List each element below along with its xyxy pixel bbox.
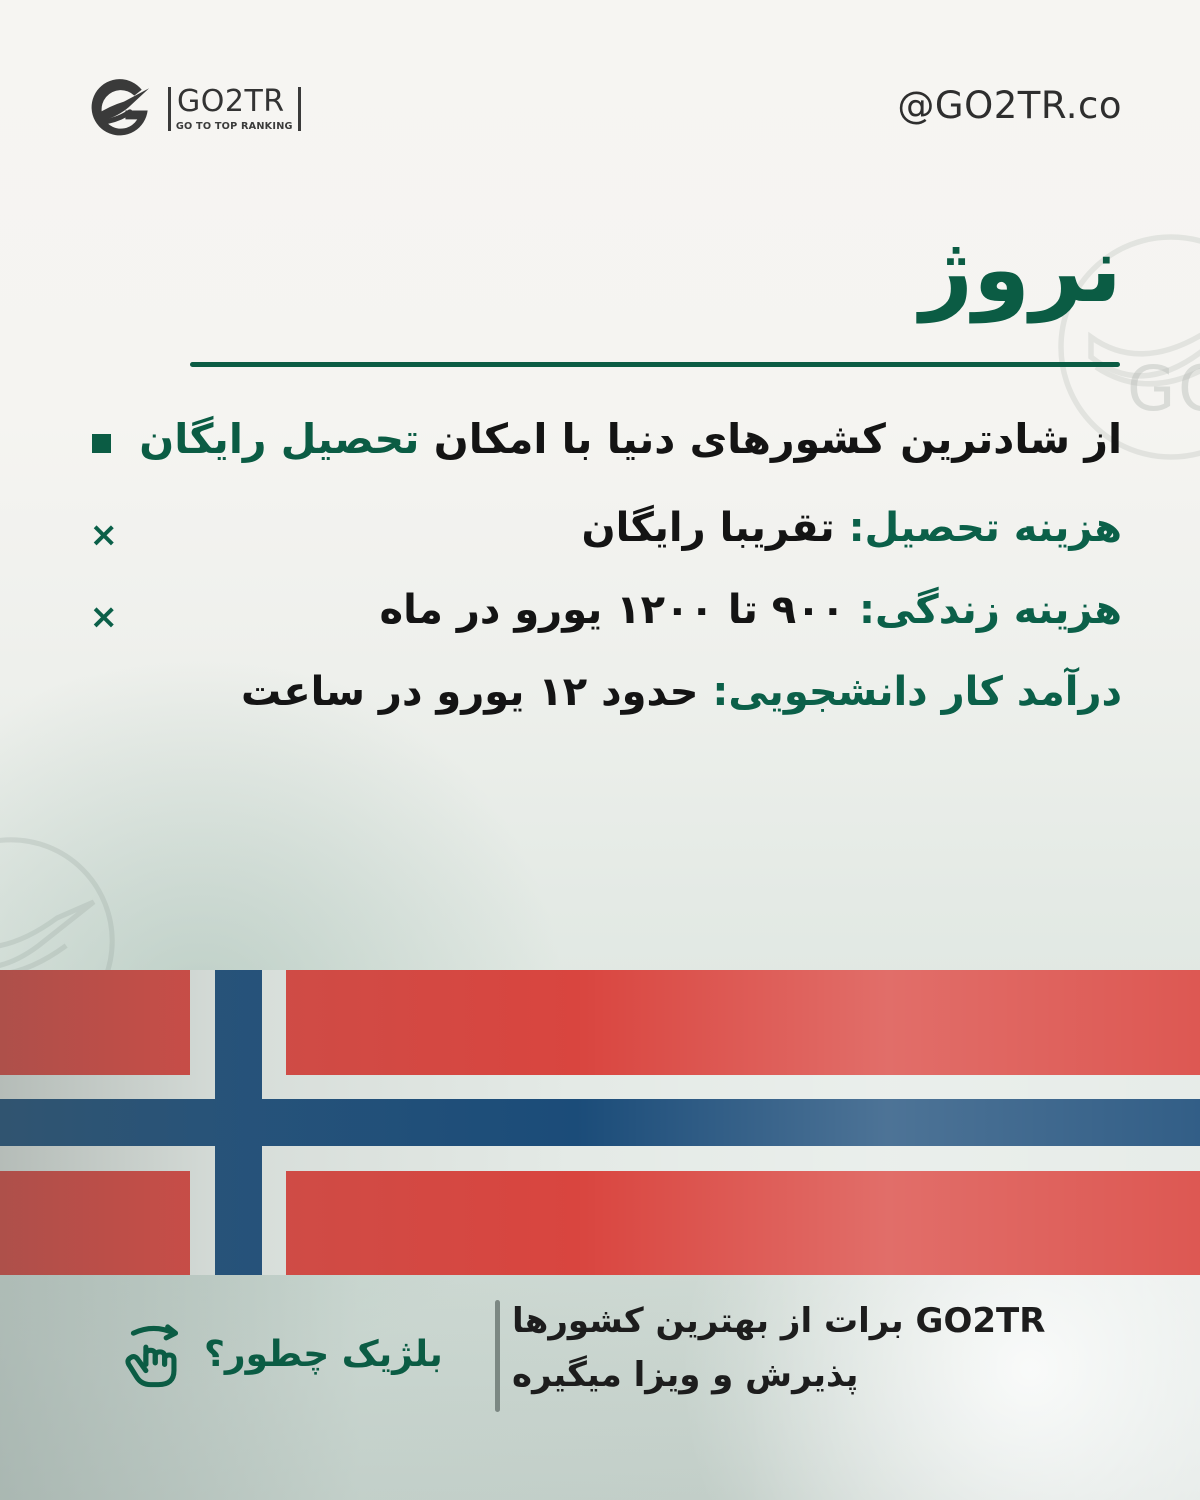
cta-label: بلژیک چطور؟: [204, 1333, 443, 1376]
list-item-text: از شادترین کشورهای دنیا با امکان تحصیل ر…: [129, 408, 1122, 472]
square-bullet-icon: [92, 434, 111, 453]
cross-bullet-icon: ×: [92, 600, 118, 634]
fact-value: ۹۰۰ تا ۱۲۰۰ یورو در ماه: [380, 587, 859, 633]
footer-line-1: GO2TR برات از بهترین کشورها: [512, 1294, 1082, 1348]
fact-label: درآمد کار دانشجویی:: [712, 669, 1122, 715]
cross-bullet-icon: ×: [92, 518, 118, 552]
go2tr-swoosh-logo-icon: [84, 72, 158, 146]
footer-line-2: پذیرش و ویزا میگیره: [512, 1348, 1082, 1402]
brand-logo-wordmark: GO2TR GO TO TOP RANKING: [168, 87, 301, 132]
page-title: نروژ: [920, 222, 1122, 319]
social-handle[interactable]: @GO2TR.co: [897, 84, 1122, 127]
fact-label: هزینه تحصیل:: [849, 505, 1122, 551]
fact-value: حدود ۱۲ یورو در ساعت: [241, 669, 712, 715]
watermark-text-right: GO: [1127, 352, 1200, 425]
list-item-tuition-cost: × هزینه تحصیل: تقریبا رایگان: [92, 498, 1122, 558]
fact-value: تقریبا رایگان: [581, 505, 848, 551]
footer-message: GO2TR برات از بهترین کشورها پذیرش و ویزا…: [512, 1294, 1082, 1403]
brand-tagline: GO TO TOP RANKING: [176, 122, 293, 132]
highlight-accent: تحصیل رایگان: [139, 415, 419, 463]
footer-divider: [495, 1300, 500, 1412]
footer-line-1-rest: برات از بهترین کشورها: [512, 1301, 916, 1341]
title-divider: [190, 362, 1120, 367]
facts-list: از شادترین کشورهای دنیا با امکان تحصیل ر…: [92, 408, 1122, 728]
brand-logo[interactable]: GO2TR GO TO TOP RANKING: [84, 72, 301, 146]
cta-next-country[interactable]: بلژیک چطور؟: [110, 1316, 443, 1394]
footer: GO2TR برات از بهترین کشورها پذیرش و ویزا…: [0, 1280, 1200, 1460]
flag-blue-horizontal-band: [0, 1099, 1200, 1146]
header: GO2TR GO TO TOP RANKING @GO2TR.co: [0, 0, 1200, 180]
infographic-canvas: GO 2TR GO2TR GO TO TOP RANKING @GO2TR.co…: [0, 0, 1200, 1500]
norway-flag: [0, 970, 1200, 1275]
highlight-lead: از شادترین کشورهای دنیا: [607, 415, 1122, 463]
brand-name: GO2TR: [177, 87, 285, 117]
fact-label: هزینه زندگی:: [859, 587, 1122, 633]
list-item-text: هزینه زندگی: ۹۰۰ تا ۱۲۰۰ یورو در ماه: [136, 580, 1122, 640]
list-item-text: هزینه تحصیل: تقریبا رایگان: [136, 498, 1122, 558]
footer-brand: GO2TR: [916, 1301, 1046, 1341]
swipe-hand-icon: [110, 1316, 188, 1394]
list-item-living-cost: × هزینه زندگی: ۹۰۰ تا ۱۲۰۰ یورو در ماه: [92, 580, 1122, 640]
list-item-highlight: از شادترین کشورهای دنیا با امکان تحصیل ر…: [92, 408, 1122, 472]
highlight-mid: با امکان: [419, 415, 606, 463]
list-item-text: درآمد کار دانشجویی: حدود ۱۲ یورو در ساعت: [92, 662, 1122, 722]
list-item-student-income: درآمد کار دانشجویی: حدود ۱۲ یورو در ساعت: [92, 662, 1122, 722]
